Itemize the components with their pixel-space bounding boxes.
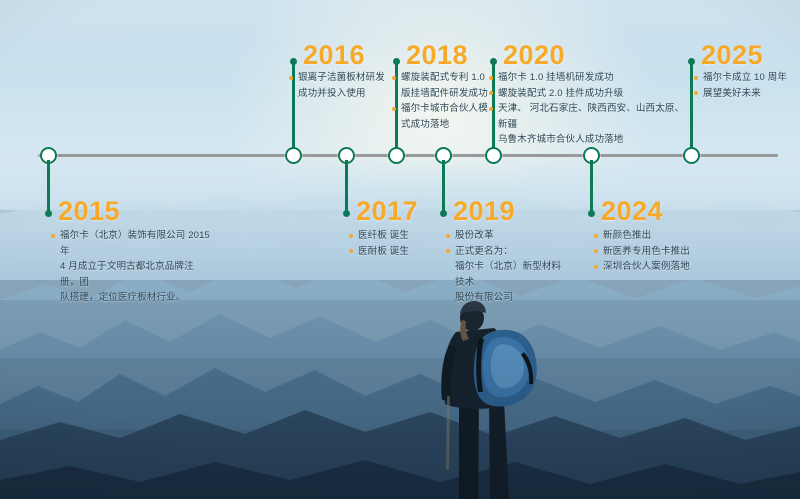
year-label-2015: 2015 bbox=[58, 198, 120, 225]
bullet-item: 正式更名为： 福尔卡（北京）新型材料技术 股份有限公司 bbox=[445, 244, 565, 306]
bullet-item: 福尔卡成立 10 周年 bbox=[693, 70, 798, 86]
bullet-item: 医耐板 诞生 bbox=[348, 244, 458, 260]
bullet-item: 螺旋装配式专利 1.0 版挂墙配件研发成功 bbox=[391, 70, 503, 101]
bullet-item: 医纤板 诞生 bbox=[348, 228, 458, 244]
node-stem-2024 bbox=[590, 160, 593, 214]
bullet-item: 福尔卡 1.0 挂墙机研发成功 bbox=[488, 70, 688, 86]
node-stem-cap-2016 bbox=[290, 58, 297, 65]
node-marker-2018[interactable] bbox=[388, 147, 405, 164]
year-label-2017: 2017 bbox=[356, 198, 418, 225]
node-marker-2025[interactable] bbox=[683, 147, 700, 164]
bullet-item: 新医养专用色卡推出 bbox=[593, 244, 723, 260]
bullet-item: 螺旋装配式 2.0 挂件成功升级 bbox=[488, 86, 688, 102]
event-bullets-2018: 螺旋装配式专利 1.0 版挂墙配件研发成功 福尔卡城市合伙人模 式成功落地 bbox=[391, 70, 503, 132]
timeline-axis bbox=[38, 154, 778, 157]
event-bullets-2025: 福尔卡成立 10 周年 展望美好未来 bbox=[693, 70, 798, 101]
node-stem-cap-2015 bbox=[45, 210, 52, 217]
node-stem-cap-2019 bbox=[440, 210, 447, 217]
event-bullets-2017: 医纤板 诞生 医耐板 诞生 bbox=[348, 228, 458, 259]
year-label-2019: 2019 bbox=[453, 198, 515, 225]
node-stem-2017 bbox=[345, 160, 348, 214]
event-bullets-2024: 新颜色推出 新医养专用色卡推出 深圳合伙人案例落地 bbox=[593, 228, 723, 275]
year-label-2025: 2025 bbox=[701, 42, 763, 69]
event-bullets-2020: 福尔卡 1.0 挂墙机研发成功 螺旋装配式 2.0 挂件成功升级 天津、 河北石… bbox=[488, 70, 688, 148]
node-stem-cap-2020 bbox=[490, 58, 497, 65]
event-bullets-2015: 福尔卡（北京）装饰有限公司 2015 年 4 月成立于文明古都北京品牌注册，团 … bbox=[50, 228, 210, 306]
node-stem-cap-2017 bbox=[343, 210, 350, 217]
bullet-item: 展望美好未来 bbox=[693, 86, 798, 102]
node-marker-2020[interactable] bbox=[485, 147, 502, 164]
year-label-2018: 2018 bbox=[406, 42, 468, 69]
timeline-infographic: 2015 福尔卡（北京）装饰有限公司 2015 年 4 月成立于文明古都北京品牌… bbox=[0, 0, 800, 499]
timeline-overlay: 2015 福尔卡（北京）装饰有限公司 2015 年 4 月成立于文明古都北京品牌… bbox=[0, 0, 800, 499]
node-stem-cap-2018 bbox=[393, 58, 400, 65]
event-bullets-2016: 银离子洁菌板材研发 成功并投入使用 bbox=[288, 70, 398, 101]
node-stem-2015 bbox=[47, 160, 50, 214]
year-label-2024: 2024 bbox=[601, 198, 663, 225]
year-label-2016: 2016 bbox=[303, 42, 365, 69]
bullet-item: 银离子洁菌板材研发 成功并投入使用 bbox=[288, 70, 398, 101]
year-label-2020: 2020 bbox=[503, 42, 565, 69]
node-stem-2019 bbox=[442, 160, 445, 214]
bullet-item: 福尔卡（北京）装饰有限公司 2015 年 4 月成立于文明古都北京品牌注册，团 … bbox=[50, 228, 210, 306]
bullet-item: 深圳合伙人案例落地 bbox=[593, 259, 723, 275]
node-stem-cap-2024 bbox=[588, 210, 595, 217]
bullet-item: 天津、 河北石家庄、陕西西安、山西太原、新疆 乌鲁木齐城市合伙人成功落地 bbox=[488, 101, 688, 148]
node-stem-cap-2025 bbox=[688, 58, 695, 65]
bullet-item: 股份改革 bbox=[445, 228, 565, 244]
bullet-item: 福尔卡城市合伙人模 式成功落地 bbox=[391, 101, 503, 132]
node-marker-2016[interactable] bbox=[285, 147, 302, 164]
bullet-item: 新颜色推出 bbox=[593, 228, 723, 244]
event-bullets-2019: 股份改革 正式更名为： 福尔卡（北京）新型材料技术 股份有限公司 bbox=[445, 228, 565, 306]
